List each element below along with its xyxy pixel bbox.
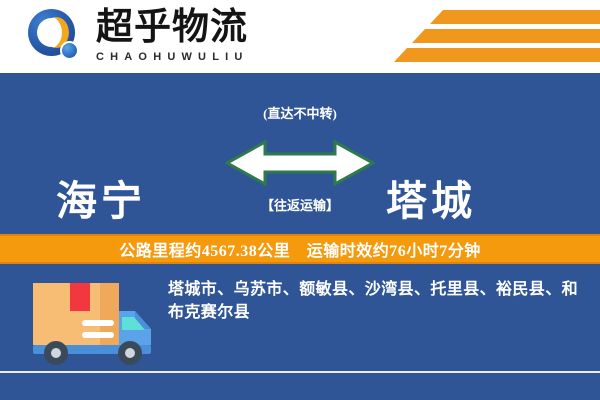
coverage-areas-text: 塔城市、乌苏市、额敏县、沙湾县、托里县、裕民县、和布克赛尔县 [168, 278, 583, 324]
brand-block: 超乎物流 CHAOHUWULIU [96, 8, 249, 64]
round-trip-caption: 【往返运输】 [225, 195, 375, 214]
stripe-1 [430, 10, 600, 24]
delivery-truck-icon [30, 277, 160, 369]
coverage-section: 塔城市、乌苏市、额敏县、沙湾县、托里县、裕民县、和布克赛尔县 [0, 266, 600, 400]
direct-shipping-caption: (直达不中转) [225, 103, 375, 122]
logo-dot-shape [60, 41, 79, 60]
brand-name-chinese: 超乎物流 [96, 8, 249, 48]
stripe-3 [394, 48, 600, 62]
destination-city-label: 塔城 [386, 167, 476, 227]
bidirectional-arrow-icon [225, 129, 375, 189]
decorative-stripes [330, 0, 600, 73]
banner-header: 超乎物流 CHAOHUWULIU [0, 0, 600, 73]
route-info-bar: 公路里程约4567.38公里 运输时效约76小时7分钟 [0, 234, 600, 264]
origin-city-label: 海宁 [56, 167, 146, 227]
route-arrow-group: (直达不中转) 【往返运输】 [225, 103, 375, 221]
brand-name-pinyin: CHAOHUWULIU [96, 50, 249, 64]
route-section: 海宁 (直达不中转) 【往返运输】 塔城 [0, 73, 600, 232]
circle-crescent-logo-icon [26, 9, 88, 65]
stripe-2 [412, 29, 600, 43]
bottom-divider [0, 371, 600, 373]
distance-and-duration-text: 公路里程约4567.38公里 运输时效约76小时7分钟 [119, 237, 481, 261]
logistics-route-banner: 超乎物流 CHAOHUWULIU 海宁 (直达不中转) 【往返运输】 塔城 公路… [0, 0, 600, 400]
